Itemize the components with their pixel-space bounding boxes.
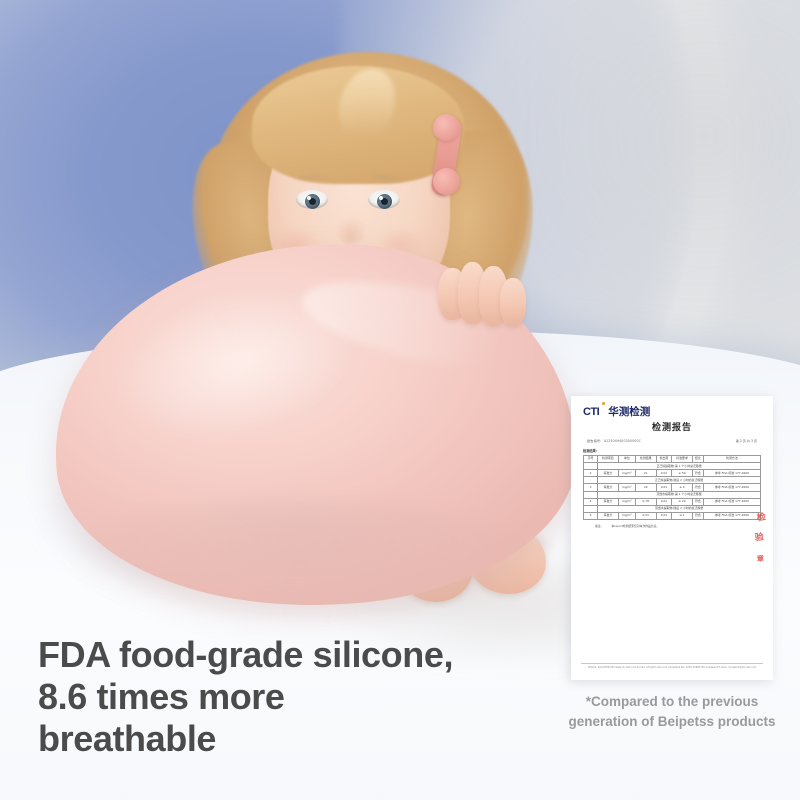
report-page: 第 2 页 共 3 页 <box>736 438 757 443</box>
table-cell: ≤ 50 <box>672 470 693 477</box>
stamp-char-2: 验 <box>755 534 765 544</box>
table-row: 蒸馏水提取物-第 1 个小时总迁移量 <box>584 491 761 498</box>
cti-logo-chinese: 华测检测 <box>608 407 650 418</box>
col-result: 检测结果 <box>636 456 657 463</box>
report-title: 检测报告 <box>583 420 761 433</box>
table-row: 正己烷提取物-第 1 个小时总迁移量 <box>584 463 761 470</box>
eye-left <box>296 190 328 209</box>
table-cell: mg/m² <box>618 498 635 505</box>
child-hand <box>438 262 526 340</box>
col-unit: 单位 <box>618 456 635 463</box>
table-row: 3挥发分mg/m²X20.01≤ 4符合参考 FDA 标准 177.2600 <box>584 484 761 491</box>
table-row: 4挥发分mg/m²0.780.01≤ 20符合参考 FDA 标准 177.260… <box>584 498 761 505</box>
table-cell: ≤ 4 <box>672 484 693 491</box>
report-footer: Hotline: 400-6788-333 www.cti-cert.com E… <box>581 663 763 669</box>
eye-right <box>368 190 400 209</box>
cti-logo-latin: CTI <box>583 407 599 418</box>
table-cell: 0.01 <box>656 470 672 477</box>
table-cell: 4 <box>584 498 598 505</box>
cti-logo-dot <box>602 402 605 405</box>
group-label-cell: 蒸馏水提取物-第 1 个小时总迁移量 <box>598 491 761 498</box>
disclaimer-text: *Compared to the previous generation of … <box>556 692 788 731</box>
table-cell: ≤ 20 <box>672 498 693 505</box>
table-cell: 挥发分 <box>598 512 619 519</box>
results-table: 序号 检测项目 单位 检测结果 检出限 标准要求 结论 检测方法 正己烷提取物-… <box>583 455 761 520</box>
table-row: 5挥发分mg/m²0.520.01≤ 1符合参考 FDA 标准 177.2600 <box>584 512 761 519</box>
headline-line-1: FDA food-grade silicone, <box>38 634 558 676</box>
table-cell: 符合 <box>692 470 703 477</box>
table-cell: 0.78 <box>636 498 657 505</box>
stamp-char-3: 章 <box>757 556 765 564</box>
red-inspection-stamp: 检 验 章 <box>755 514 773 576</box>
table-cell: 2 <box>584 470 598 477</box>
table-cell: 参考 FDA 标准 177.2600 <box>703 498 760 505</box>
headline-line-2: 8.6 times more <box>38 676 558 718</box>
cti-logo: CTI 华测检测 <box>583 407 761 418</box>
table-cell: 5 <box>584 512 598 519</box>
col-index: 序号 <box>584 456 598 463</box>
table-cell: 挥发分 <box>598 484 619 491</box>
table-row: 正己烷提取物-随后 2 小时的总迁移量 <box>584 477 761 484</box>
report-note: 备注:本report检测结果仅对本次样品负责。 <box>583 524 761 528</box>
table-cell: 0.52 <box>636 512 657 519</box>
table-cell: 21 <box>636 470 657 477</box>
table-cell: 挥发分 <box>598 498 619 505</box>
col-item: 检测项目 <box>598 456 619 463</box>
group-index-cell <box>584 463 598 470</box>
report-number: 报告编号: A225049400300000C <box>587 438 641 443</box>
table-cell: 挥发分 <box>598 470 619 477</box>
table-cell: 0.01 <box>656 498 672 505</box>
stamp-char-1: 检 <box>756 513 766 523</box>
headline-line-3: breathable <box>38 718 558 760</box>
table-cell: 0.01 <box>656 484 672 491</box>
group-index-cell <box>584 477 598 484</box>
group-index-cell <box>584 491 598 498</box>
col-standard: 标准要求 <box>672 456 693 463</box>
test-report-document: CTI 华测检测 检测报告 报告编号: A225049400300000C 第 … <box>571 396 773 680</box>
group-index-cell <box>584 505 598 512</box>
table-cell: 符合 <box>692 498 703 505</box>
table-row: 2挥发分mg/m²210.01≤ 50符合参考 FDA 标准 177.2600 <box>584 470 761 477</box>
eye-glint-right <box>379 196 383 200</box>
hair-clip-bead-top <box>433 114 460 141</box>
table-cell: mg/m² <box>618 512 635 519</box>
nose <box>336 218 366 244</box>
table-cell: 符合 <box>692 484 703 491</box>
table-cell: 参考 FDA 标准 177.2600 <box>703 484 760 491</box>
table-cell: 参考 FDA 标准 177.2600 <box>703 512 760 519</box>
results-section-label: 检测结果: <box>583 448 761 453</box>
table-cell: mg/m² <box>618 484 635 491</box>
col-method: 检测方法 <box>703 456 760 463</box>
table-row: 蒸馏水提取物-随后 2 小时的总迁移量 <box>584 505 761 512</box>
group-label-cell: 蒸馏水提取物-随后 2 小时的总迁移量 <box>598 505 761 512</box>
group-label-cell: 正己烷提取物-第 1 个小时总迁移量 <box>598 463 761 470</box>
col-conclusion: 结论 <box>692 456 703 463</box>
table-cell: 3 <box>584 484 598 491</box>
note-text: 本report检测结果仅对本次样品负责。 <box>612 524 660 528</box>
table-body: 正己烷提取物-第 1 个小时总迁移量2挥发分mg/m²210.01≤ 50符合参… <box>584 463 761 520</box>
finger-4 <box>500 278 526 326</box>
table-cell: mg/m² <box>618 470 635 477</box>
table-cell: X2 <box>636 484 657 491</box>
table-cell: ≤ 1 <box>672 512 693 519</box>
eye-glint-left <box>307 196 311 200</box>
page-title: FDA food-grade silicone, 8.6 times more … <box>38 634 558 760</box>
col-limit: 检出限 <box>656 456 672 463</box>
table-cell: 0.01 <box>656 512 672 519</box>
cushion-shadow <box>70 500 530 620</box>
table-cell: 符合 <box>692 512 703 519</box>
note-label: 备注: <box>595 524 602 528</box>
advertisement-image: CTI 华测检测 检测报告 报告编号: A225049400300000C 第 … <box>0 0 800 800</box>
report-meta: 报告编号: A225049400300000C 第 2 页 共 3 页 <box>583 438 761 443</box>
table-cell: 参考 FDA 标准 177.2600 <box>703 470 760 477</box>
group-label-cell: 正己烷提取物-随后 2 小时的总迁移量 <box>598 477 761 484</box>
table-header-row: 序号 检测项目 单位 检测结果 检出限 标准要求 结论 检测方法 <box>584 456 761 463</box>
hair-clip-bead-bottom <box>433 168 460 195</box>
